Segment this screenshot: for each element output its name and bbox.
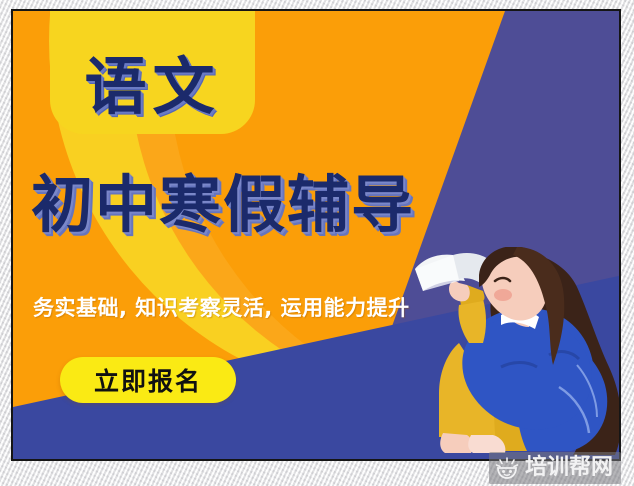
foot-left bbox=[440, 433, 473, 453]
cheek-blush bbox=[494, 289, 512, 301]
near-arm-sleeve bbox=[458, 299, 486, 343]
watermark: 培训帮网 bbox=[489, 452, 621, 484]
hand bbox=[449, 281, 470, 301]
headline: 初中寒假辅导 bbox=[31, 174, 415, 236]
promo-banner: 语文 初中寒假辅导 务实基础, 知识考察灵活, 运用能力提升 立即报名 bbox=[11, 9, 621, 461]
watermark-label: 培训帮网 bbox=[525, 457, 613, 479]
subject-badge-label: 语文 bbox=[84, 56, 220, 118]
enroll-now-button[interactable]: 立即报名 bbox=[60, 357, 236, 403]
reading-girl-illustration bbox=[409, 247, 621, 461]
subheadline: 务实基础, 知识考察灵活, 运用能力提升 bbox=[33, 292, 410, 322]
image-frame: 语文 初中寒假辅导 务实基础, 知识考察灵活, 运用能力提升 立即报名 bbox=[0, 0, 634, 486]
sun-face-icon bbox=[495, 457, 519, 479]
subject-badge: 语文 bbox=[50, 9, 255, 134]
enroll-now-button-label: 立即报名 bbox=[94, 362, 202, 398]
